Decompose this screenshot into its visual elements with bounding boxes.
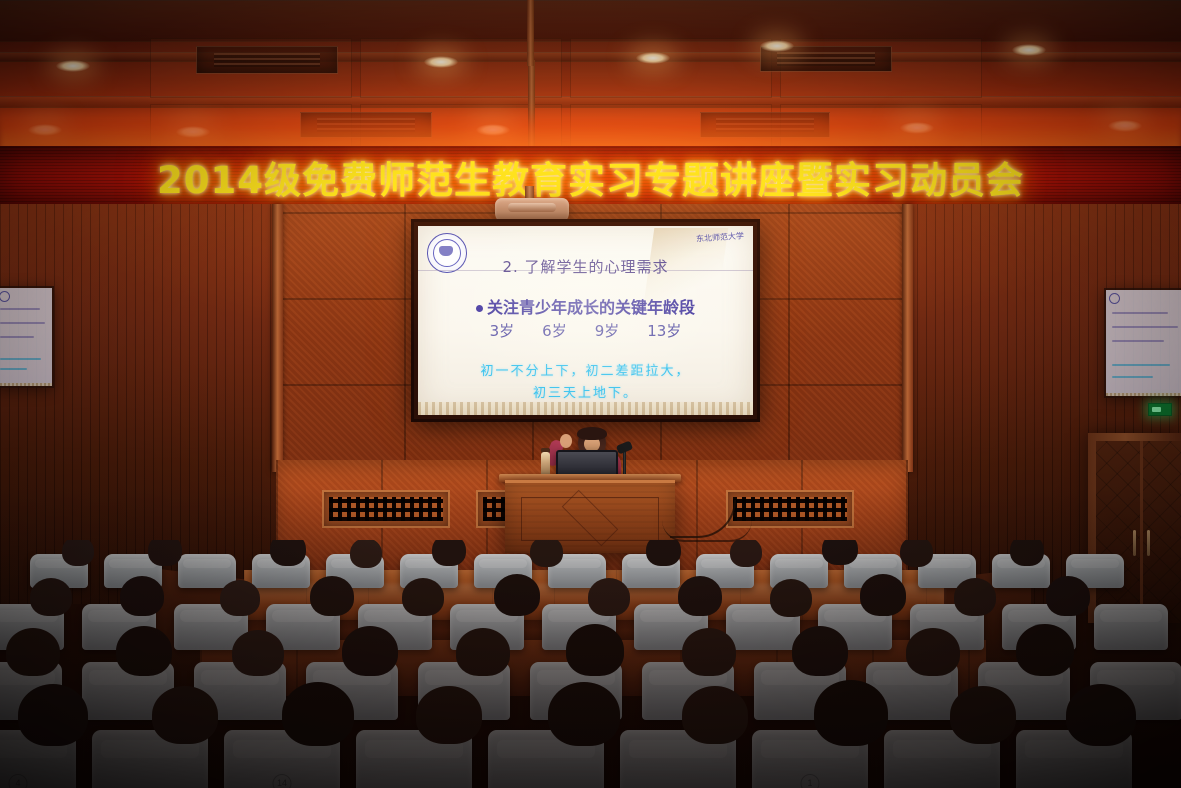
seat-number: 4 [9,774,28,788]
auditorium-scene: 2014级免费师范生教育实习专题讲座暨实习动员会 东北师范大学 [0,0,1181,788]
ceiling-downlight [636,52,670,64]
audience-head [432,540,466,566]
audience-head [310,576,354,616]
ceiling-downlight [424,56,458,68]
banner-text: 2014级免费师范生教育实习专题讲座暨实习动员会 [157,150,1024,204]
wall-column-left [272,204,283,472]
audience-head [530,540,563,567]
audience-head [682,628,736,676]
slide-surface: 东北师范大学 2. 了解学生的心理需求 关注青少年成长的关键年龄段 3岁6岁9岁… [418,226,753,415]
side-monitor-left-slide [0,288,52,386]
presenter-hair [577,427,607,440]
slide-handwriting-line-1: 初一不分上下，初二差距拉大， [418,360,753,379]
audience-head [282,682,354,746]
ceiling-downlight [56,60,90,72]
slide-handwriting-line-2: 初三天上地下。 [418,382,753,401]
audience-head [730,540,762,567]
audience-head [416,686,482,744]
audience-head [548,682,620,746]
seat-number: 1 [801,774,820,788]
ceiling-support-rod [527,0,534,66]
audience-head [270,540,306,566]
audience-head [646,540,681,566]
audience-head [494,574,540,616]
audience-head [792,626,848,676]
age-item: 6岁 [542,322,567,340]
audience-head [30,578,72,616]
slide-bullet-line: 关注青少年成长的关键年龄段 [418,294,753,318]
audience-head [456,628,510,676]
audience-head [148,540,182,566]
slide-decorative-footer [418,402,753,415]
wall-column-right [902,204,913,472]
audience-head [116,626,172,676]
side-monitor-right-slide [1106,290,1181,396]
floor-cable [662,520,752,542]
audience-head [1010,540,1044,566]
audience-head [152,686,218,744]
audience-head [232,630,284,676]
emergency-exit-sign-icon [1148,403,1172,416]
audience-head [770,579,812,617]
audience-head [342,626,398,676]
audience-head [120,576,164,616]
projection-screen: 东北师范大学 2. 了解学生的心理需求 关注青少年成长的关键年龄段 3岁6岁9岁… [411,219,760,422]
audience-head [1016,624,1074,676]
led-banner: 2014级免费师范生教育实习专题讲座暨实习动员会 [0,146,1181,208]
side-monitor-right [1104,288,1181,398]
side-monitor-left [0,286,54,388]
audience-head [950,686,1016,744]
audience-head [682,686,748,744]
bullet-dot-icon [476,305,483,312]
seat-number: 14 [273,774,292,788]
audience-head [954,578,996,616]
seat[interactable] [1094,604,1168,650]
projector-lens [508,203,556,212]
slide-bullet-text: 关注青少年成长的关键年龄段 [487,298,695,317]
audience-area: 8 [0,540,1181,788]
age-item: 3岁 [490,322,515,340]
slide-ages-row: 3岁6岁9岁13岁 [418,320,753,341]
audience-head [18,684,88,746]
ceiling-downlight [1012,44,1046,56]
ceiling [0,0,1181,152]
ceiling-downlight [760,40,794,52]
slide-heading: 2. 了解学生的心理需求 [418,256,753,277]
audience-head [900,540,933,567]
audience-head [860,574,906,616]
age-item: 9岁 [595,322,620,340]
audience-head [220,580,260,616]
audience-head [588,578,630,616]
audience-head [350,540,382,568]
wall-grille-left [322,490,450,528]
slide-brand-text: 东北师范大学 [696,230,745,244]
audience-head [402,578,444,616]
audience-head [814,680,888,746]
hvac-vent [196,46,338,74]
audience-head [906,628,960,676]
audience-head [1046,576,1090,616]
audience-head [62,540,94,566]
audience-head [566,624,624,676]
age-item: 13岁 [647,322,681,340]
audience-head [678,576,722,616]
audience-head [1066,684,1136,746]
audience-head [822,540,858,565]
audience-head [6,628,60,676]
presenter-hand [560,434,572,448]
